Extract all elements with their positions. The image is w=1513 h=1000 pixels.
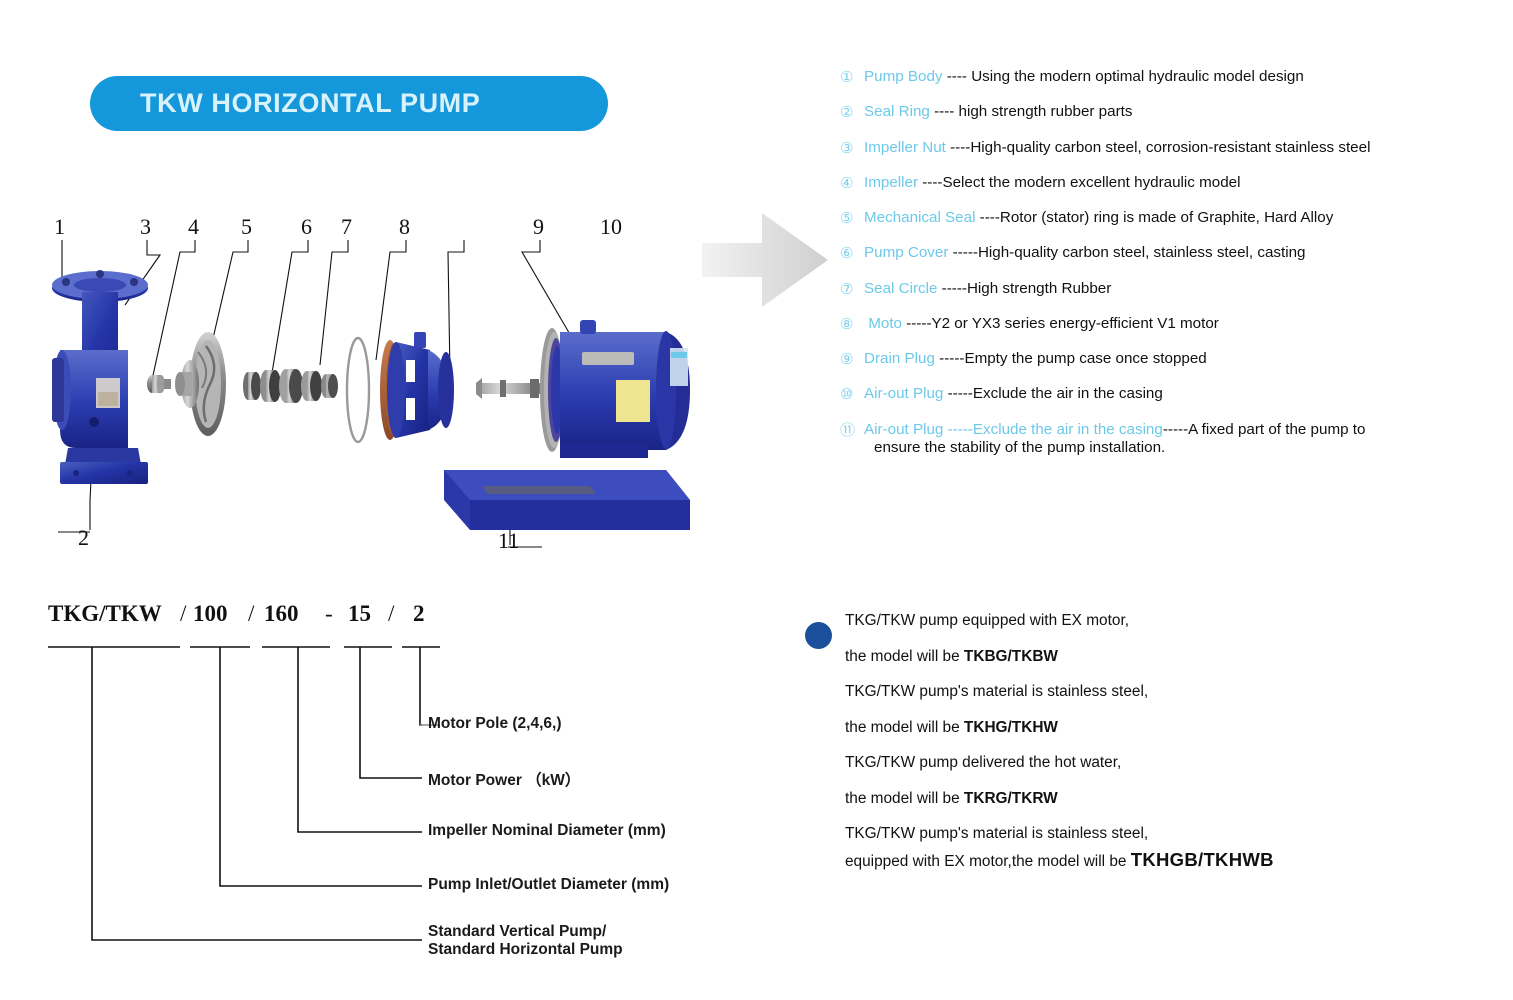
note-line-8: equipped with EX motor,the model will be…: [845, 849, 1460, 871]
legend-item-11: ⑪ Air-out Plug -----Exclude the air in t…: [840, 421, 1500, 458]
model-code-label-inlet-outlet: Pump Inlet/Outlet Diameter (mm): [428, 876, 669, 894]
model-code-label-standard-pump-line2: Standard Horizontal Pump: [428, 941, 623, 959]
flow-arrow: [700, 205, 840, 315]
legend-item-10: ⑩ Air-out Plug -----Exclude the air in t…: [840, 385, 1500, 404]
legend-dash: ----: [946, 139, 970, 156]
legend-part-name: Air-out Plug: [864, 385, 943, 402]
legend-dash: -----: [935, 350, 965, 367]
note-line-3: TKG/TKW pump's material is stainless ste…: [845, 683, 1460, 701]
legend-item-1-body: Pump Body ---- Using the modern optimal …: [864, 68, 1304, 87]
legend-desc: Select the modern excellent hydraulic mo…: [942, 174, 1240, 191]
note-model-tkhgb: TKHGB/TKHWB: [1131, 849, 1274, 870]
legend-part-name: Impeller Nut: [864, 139, 946, 156]
model-code-label-standard-pump: Standard Vertical Pump/ Standard Horizon…: [428, 923, 623, 959]
legend-desc: Empty the pump case once stopped: [964, 350, 1206, 367]
legend-number-icon: ①: [840, 68, 864, 87]
legend-desc-blue: Exclude the air in the casing: [973, 421, 1163, 438]
legend-part-name: Pump Cover: [864, 244, 948, 261]
pump-variant-notes: TKG/TKW pump equipped with EX motor, the…: [800, 612, 1460, 889]
callout-number-2: 2: [78, 525, 89, 551]
legend-desc: High-quality carbon steel, corrosion-res…: [970, 139, 1370, 156]
legend-number-icon: ②: [840, 103, 864, 122]
legend-desc: High-quality carbon steel, stainless ste…: [978, 244, 1306, 261]
note-line-1: TKG/TKW pump equipped with EX motor,: [845, 612, 1460, 630]
note-model-tkrg: TKRG/TKRW: [964, 790, 1058, 807]
legend-part-name: Moto: [868, 315, 902, 332]
model-code-segment-power: 15: [348, 601, 371, 627]
legend-dash: ----: [930, 103, 959, 120]
legend-dash-2: -----: [1163, 421, 1188, 438]
legend-item-6-body: Pump Cover -----High-quality carbon stee…: [864, 244, 1305, 263]
legend-item-11-body: Air-out Plug -----Exclude the air in the…: [864, 421, 1365, 458]
model-code-separator-2: /: [388, 601, 394, 627]
model-code-separator-0: /: [180, 601, 186, 627]
exploded-pump-diagram: 1 2 3 4 5 6 7 8 9 10 11: [30, 200, 690, 570]
legend-item-4-body: Impeller ----Select the modern excellent…: [864, 174, 1241, 193]
legend-item-2: ② Seal Ring ---- high strength rubber pa…: [840, 103, 1500, 122]
legend-part-name: Air-out Plug: [864, 421, 943, 438]
legend-item-1: ① Pump Body ---- Using the modern optima…: [840, 68, 1500, 87]
model-code-segment-impeller: 160: [264, 601, 299, 627]
legend-dash: -----: [948, 244, 978, 261]
legend-item-8-body: Moto -----Y2 or YX3 series energy-effici…: [864, 315, 1219, 334]
legend-part-name: Seal Circle: [864, 280, 937, 297]
callout-number-1: 1: [54, 214, 65, 240]
callout-number-11: 11: [498, 528, 519, 554]
callout-number-8: 8: [399, 214, 410, 240]
legend-item-9-body: Drain Plug -----Empty the pump case once…: [864, 350, 1207, 369]
model-code-designation: TKG/TKW 100 160 15 2 / / - / Motor Pole …: [30, 595, 720, 975]
legend-number-icon: ⑤: [840, 209, 864, 228]
legend-desc: Exclude the air in the casing: [973, 385, 1163, 402]
note-model-tkbg: TKBG/TKBW: [964, 648, 1058, 665]
legend-number-icon: ③: [840, 139, 864, 158]
legend-desc: Using the modern optimal hydraulic model…: [971, 68, 1304, 85]
legend-dash: -----: [937, 280, 967, 297]
legend-number-icon: ⑥: [840, 244, 864, 263]
legend-item-8: ⑧ Moto -----Y2 or YX3 series energy-effi…: [840, 315, 1500, 334]
note-line-4: the model will be TKHG/TKHW: [845, 719, 1460, 737]
note-line-5: TKG/TKW pump delivered the hot water,: [845, 754, 1460, 772]
callout-number-10: 10: [600, 214, 622, 240]
parts-legend: ① Pump Body ---- Using the modern optima…: [840, 68, 1500, 474]
page-title-banner: TKW HORIZONTAL PUMP: [90, 76, 608, 131]
legend-number-icon: ⑪: [840, 421, 864, 440]
legend-item-4: ④ Impeller ----Select the modern excelle…: [840, 174, 1500, 193]
model-code-label-impeller-dia: Impeller Nominal Diameter (mm): [428, 822, 666, 840]
legend-item-7: ⑦ Seal Circle -----High strength Rubber: [840, 280, 1500, 299]
model-code-segment-series: TKG/TKW: [48, 601, 162, 627]
note-line-2: the model will be TKBG/TKBW: [845, 648, 1460, 666]
legend-item-10-body: Air-out Plug -----Exclude the air in the…: [864, 385, 1163, 404]
callout-number-6: 6: [301, 214, 312, 240]
pump-assembly-illustration: [30, 200, 690, 570]
legend-desc: A fixed part of the pump to: [1188, 421, 1365, 438]
model-code-segment-pole: 2: [413, 601, 425, 627]
legend-number-icon: ⑧: [840, 315, 864, 334]
legend-desc: high strength rubber parts: [959, 103, 1133, 120]
legend-part-name: Drain Plug: [864, 350, 935, 367]
legend-desc: High strength Rubber: [967, 280, 1111, 297]
note-line-8-prefix: equipped with EX motor,the model will be: [845, 853, 1131, 870]
legend-item-6: ⑥ Pump Cover -----High-quality carbon st…: [840, 244, 1500, 263]
model-code-separator-1: /: [248, 601, 254, 627]
legend-dash: ----: [918, 174, 942, 191]
bullet-dot-icon: [805, 622, 832, 649]
notes-lines: TKG/TKW pump equipped with EX motor, the…: [845, 612, 1460, 871]
legend-dash: ----: [975, 209, 999, 226]
legend-part-name: Impeller: [864, 174, 918, 191]
legend-desc-line2: ensure the stability of the pump install…: [874, 439, 1365, 458]
legend-part-name: Pump Body: [864, 68, 943, 85]
legend-number-icon: ⑩: [840, 385, 864, 404]
legend-item-3-body: Impeller Nut ----High-quality carbon ste…: [864, 139, 1370, 158]
callout-number-7: 7: [341, 214, 352, 240]
legend-dash: -----: [902, 315, 932, 332]
model-code-label-standard-pump-line1: Standard Vertical Pump/: [428, 923, 606, 940]
legend-item-5: ⑤ Mechanical Seal ----Rotor (stator) rin…: [840, 209, 1500, 228]
model-code-separator-3: -: [325, 601, 333, 627]
legend-part-name: Seal Ring: [864, 103, 930, 120]
legend-dash: -----: [943, 421, 973, 438]
note-model-tkhg: TKHG/TKHW: [964, 719, 1058, 736]
callout-number-9: 9: [533, 214, 544, 240]
legend-dash: ----: [943, 68, 972, 85]
legend-item-9: ⑨ Drain Plug -----Empty the pump case on…: [840, 350, 1500, 369]
legend-desc: Rotor (stator) ring is made of Graphite,…: [1000, 209, 1333, 226]
callout-number-5: 5: [241, 214, 252, 240]
model-code-segment-inlet: 100: [193, 601, 228, 627]
right-arrow-icon: [700, 205, 840, 315]
legend-item-2-body: Seal Ring ---- high strength rubber part…: [864, 103, 1132, 122]
note-line-7: TKG/TKW pump's material is stainless ste…: [845, 825, 1460, 843]
legend-part-name: Mechanical Seal: [864, 209, 975, 226]
model-code-leader-lines: [30, 595, 720, 975]
legend-desc: Y2 or YX3 series energy-efficient V1 mot…: [932, 315, 1219, 332]
legend-item-5-body: Mechanical Seal ----Rotor (stator) ring …: [864, 209, 1333, 228]
legend-item-3: ③ Impeller Nut ----High-quality carbon s…: [840, 139, 1500, 158]
legend-number-icon: ④: [840, 174, 864, 193]
page-title: TKW HORIZONTAL PUMP: [140, 88, 480, 119]
legend-number-icon: ⑦: [840, 280, 864, 299]
callout-number-3: 3: [140, 214, 151, 240]
legend-item-7-body: Seal Circle -----High strength Rubber: [864, 280, 1111, 299]
legend-number-icon: ⑨: [840, 350, 864, 369]
model-code-label-motor-pole: Motor Pole (2,4,6,): [428, 715, 562, 733]
legend-dash: -----: [943, 385, 973, 402]
callout-number-4: 4: [188, 214, 199, 240]
model-code-label-motor-power: Motor Power （kW）: [428, 768, 580, 790]
note-line-6: the model will be TKRG/TKRW: [845, 790, 1460, 808]
